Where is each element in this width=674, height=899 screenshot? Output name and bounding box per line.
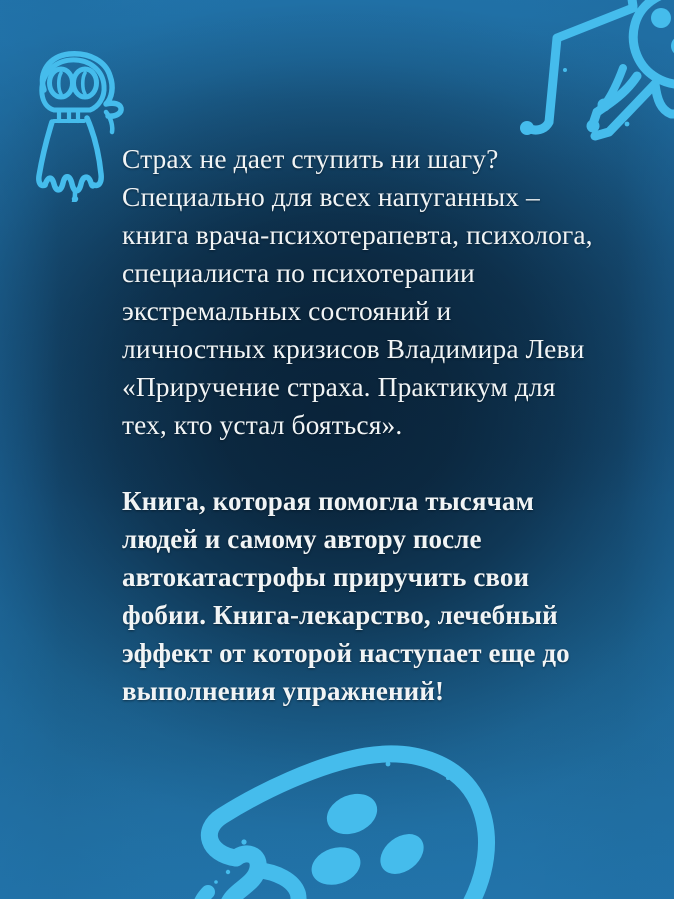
intro-paragraph: Страх не дает ступить ни шагу? Специальн… — [122, 140, 594, 444]
slide-copy: Страх не дает ступить ни шагу? Специальн… — [122, 140, 594, 710]
pitch-paragraph: Книга, которая помогла тысячам людей и с… — [122, 482, 594, 710]
promo-slide: Страх не дает ступить ни шагу? Специальн… — [0, 0, 674, 899]
